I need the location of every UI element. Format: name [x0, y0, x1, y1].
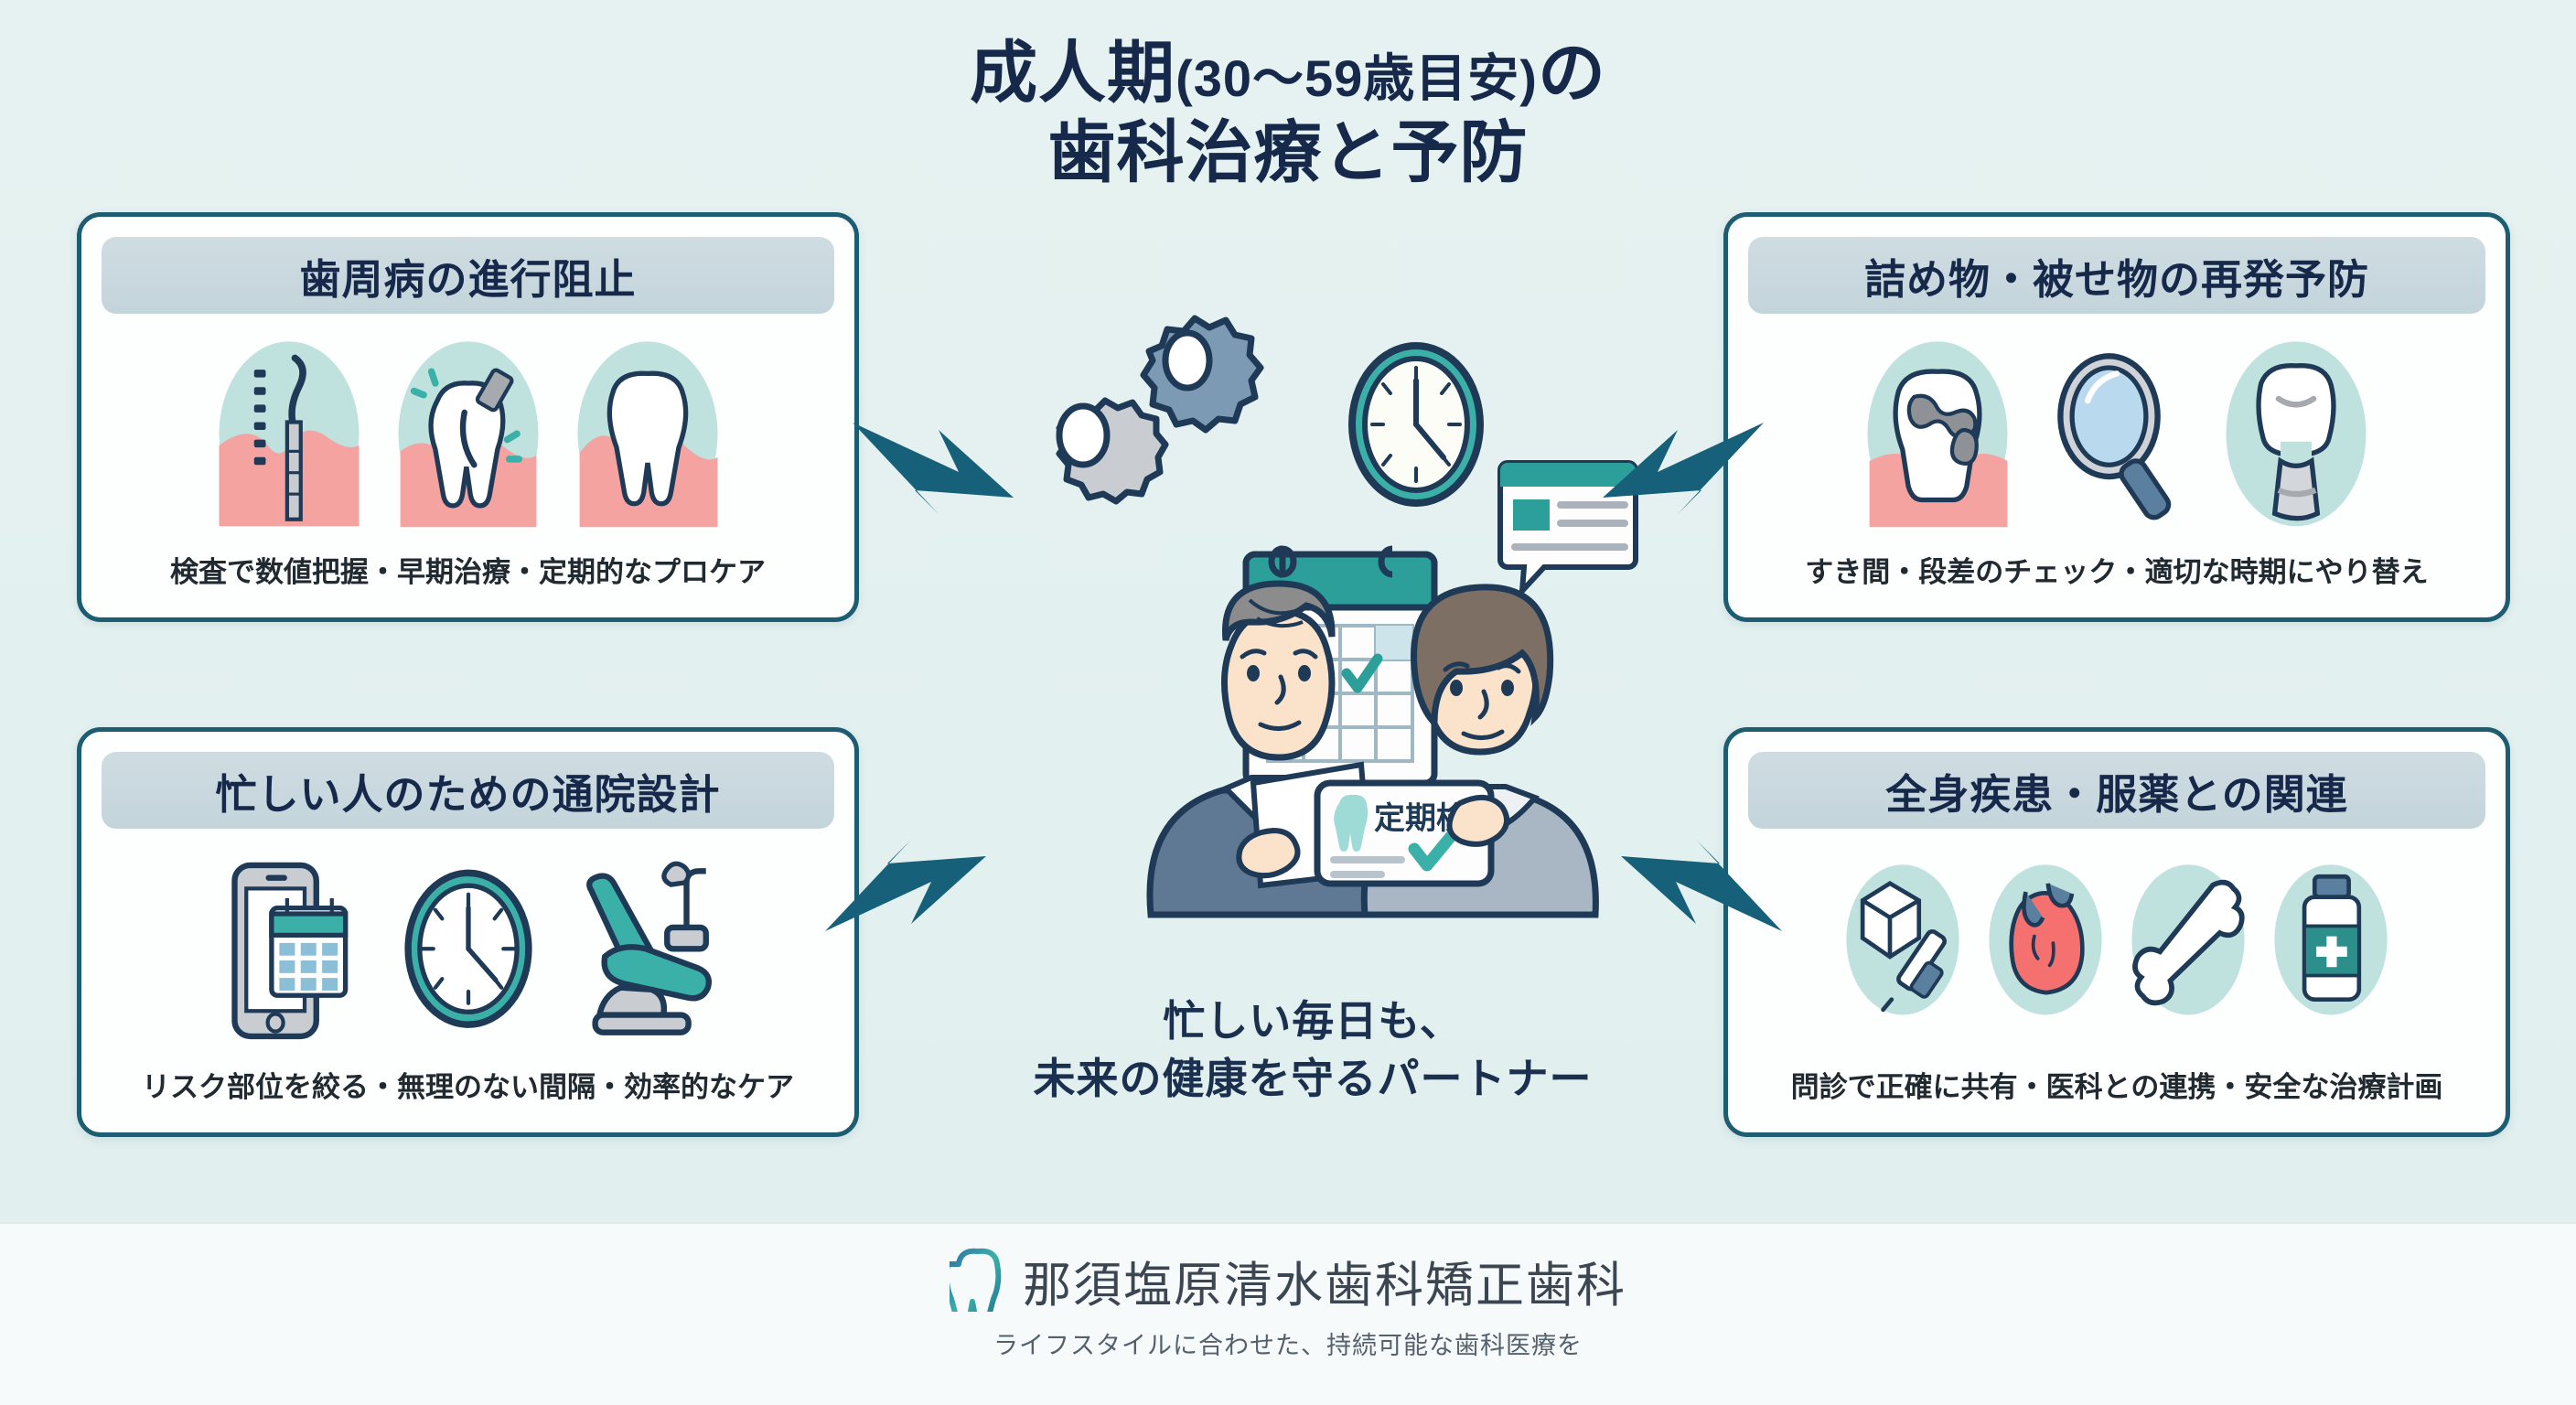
card-caption: リスク部位を絞る・無理のない間隔・効率的なケア	[81, 1064, 854, 1105]
wall-clock-icon	[1352, 346, 1480, 503]
bone-icon	[2124, 853, 2252, 1026]
title-main: 成人期	[970, 35, 1175, 111]
card-header: 歯周病の進行阻止	[102, 237, 834, 314]
card-header: 詰め物・被せ物の再発予防	[1748, 237, 2485, 314]
card-icon-row	[1728, 338, 2506, 530]
card-schedule[interactable]: 忙しい人のための通院設計	[77, 727, 859, 1137]
infographic-canvas: 成人期(30〜59歳目安)の 歯科治療と予防 歯周病の進行阻止	[0, 0, 2576, 1405]
smartphone-calendar-icon	[211, 853, 367, 1045]
arrow-to-center-from-top-left	[851, 402, 1025, 535]
card-caption: 検査で数値把握・早期治療・定期的なプロケア	[81, 549, 854, 590]
dental-chair-icon	[570, 853, 725, 1045]
healthy-tooth-gum-icon	[570, 338, 725, 530]
card-heading-text: 忙しい人のための通院設計	[215, 761, 720, 820]
arrow-to-center-from-bottom-right	[1610, 823, 1784, 956]
card-heading-text: 歯周病の進行阻止	[299, 246, 636, 306]
periodontal-probe-icon	[211, 338, 367, 530]
card-heading-text: 詰め物・被せ物の再発予防	[1864, 246, 2369, 306]
gear-small-icon	[1059, 401, 1165, 501]
title-line-2: 歯科治療と予防	[0, 113, 2576, 192]
card-icon-row	[81, 853, 854, 1045]
sugar-cube-insulin-pen-icon	[1839, 853, 1967, 1026]
heart-icon	[1981, 853, 2109, 1026]
card-header: 忙しい人のための通院設計	[102, 752, 834, 829]
card-heading-text: 全身疾患・服薬との関連	[1885, 761, 2348, 820]
tooth-logo-icon	[950, 1246, 1006, 1316]
page-title: 成人期(30〜59歳目安)の 歯科治療と予防	[0, 33, 2576, 193]
card-icon-row	[1728, 853, 2506, 1026]
card-caption: 問診で正確に共有・医科との連携・安全な治療計画	[1728, 1064, 2506, 1105]
card-header: 全身疾患・服薬との関連	[1748, 752, 2485, 829]
medicine-bottle-icon	[2267, 853, 2395, 1026]
title-line-1: 成人期(30〜59歳目安)の	[0, 33, 2576, 113]
decayed-filling-tooth-icon	[1860, 338, 2015, 530]
card-restoration[interactable]: 詰め物・被せ物の再発予防	[1723, 212, 2510, 622]
arrow-to-center-from-top-right	[1592, 402, 1766, 535]
clinic-name: 那須塩原清水歯科矯正歯科	[1023, 1247, 1626, 1316]
crown-tooth-icon	[2218, 338, 2374, 530]
card-periodontal[interactable]: 歯周病の進行阻止	[77, 212, 859, 622]
tagline-line-1: 忙しい毎日も、	[951, 992, 1674, 1050]
clinic-subtitle: ライフスタイルに合わせた、持続可能な歯科医療を	[993, 1325, 1583, 1361]
title-age-range: (30〜59歳目安)	[1175, 49, 1538, 107]
center-tagline: 忙しい毎日も、 未来の健康を守るパートナー	[951, 992, 1674, 1109]
magnifier-icon	[2039, 338, 2195, 530]
arrow-to-center-from-bottom-left	[823, 823, 997, 956]
card-icon-row	[81, 338, 854, 530]
wall-clock-icon	[391, 853, 546, 1045]
tagline-line-2: 未来の健康を守るパートナー	[951, 1050, 1674, 1108]
gear-large-icon	[1143, 318, 1261, 430]
center-illustration: 定期検診	[951, 274, 1674, 933]
footer: 那須塩原清水歯科矯正歯科 ライフスタイルに合わせた、持続可能な歯科医療を	[0, 1222, 2576, 1405]
card-systemic[interactable]: 全身疾患・服薬との関連	[1723, 727, 2510, 1137]
scaling-tool-tooth-icon	[391, 338, 546, 530]
card-caption: すき間・段差のチェック・適切な時期にやり替え	[1728, 549, 2506, 590]
title-tail: の	[1538, 35, 1606, 111]
